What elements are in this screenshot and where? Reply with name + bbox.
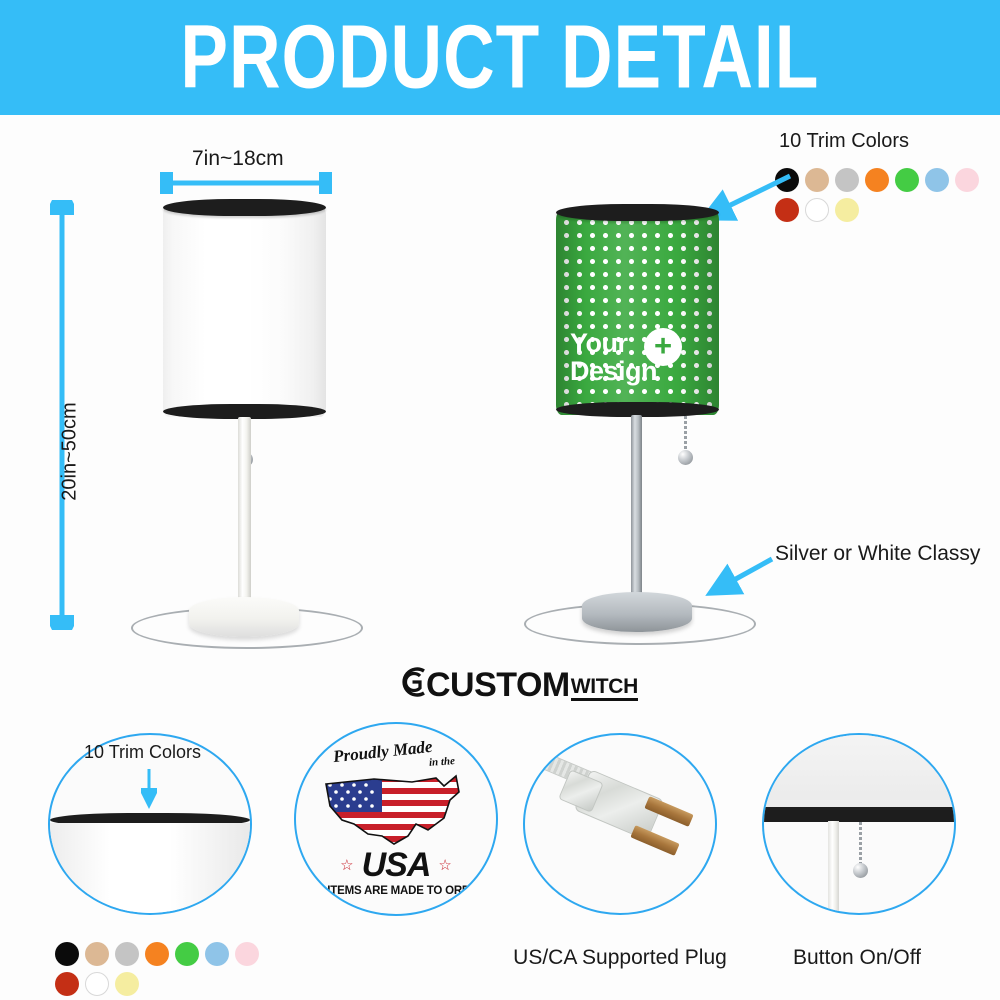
- plug-prong-bottom: [630, 825, 679, 856]
- feature-trim-colors-label: 10 Trim Colors: [84, 742, 201, 763]
- usa-in-the: in the: [429, 755, 456, 769]
- logo-c-icon: [398, 665, 428, 699]
- trim-swatch-red[interactable]: [55, 972, 79, 996]
- switch-chain-ball[interactable]: [853, 863, 868, 878]
- white-lamp-shade: [163, 205, 326, 417]
- trim-swatch-orange[interactable]: [145, 942, 169, 966]
- made-in-usa-feature-circle: Proudly Made in the: [294, 722, 498, 916]
- white-shade-surface: [163, 205, 326, 417]
- trim-colors-title: 10 Trim Colors: [779, 130, 909, 153]
- switch-pull-chain[interactable]: [859, 822, 862, 866]
- switch-feature-caption: Button On/Off: [707, 946, 1000, 970]
- trim-swatch-green[interactable]: [895, 168, 919, 192]
- plus-icon[interactable]: +: [644, 328, 682, 366]
- plus-icon-glyph: +: [654, 330, 672, 361]
- switch-pole: [828, 821, 839, 913]
- green-lamp-shade[interactable]: Your Design +: [556, 210, 719, 415]
- trim-swatch-orange[interactable]: [865, 168, 889, 192]
- logo-main-text: CUSTOM: [426, 669, 570, 701]
- trim-swatch-pink[interactable]: [235, 942, 259, 966]
- width-dimension-arrow: [160, 172, 332, 194]
- trim-swatch-gray[interactable]: [115, 942, 139, 966]
- trim-swatch-white[interactable]: [805, 198, 829, 222]
- trim-swatch-pink[interactable]: [955, 168, 979, 192]
- green-shade-top-trim: [556, 204, 719, 221]
- product-detail-infographic: PRODUCT DETAIL 10 Trim Colors 7in~18cm: [0, 0, 1000, 1000]
- base-finish-label: Silver or White Classy: [775, 542, 980, 566]
- usa-proudly-made: Proudly Made: [332, 736, 433, 766]
- green-lamp-pull-chain[interactable]: [684, 416, 687, 454]
- feature-trim-arrow: [141, 767, 157, 811]
- trim-swatch-light-blue[interactable]: [925, 168, 949, 192]
- trim-swatch-white[interactable]: [85, 972, 109, 996]
- page-title: PRODUCT DETAIL: [181, 13, 820, 103]
- silver-lamp-base: [582, 592, 692, 632]
- height-dimension-label: 20in~50cm: [59, 372, 82, 532]
- white-shade-top-trim: [163, 199, 326, 216]
- design-line-2: Design: [570, 358, 709, 386]
- silver-lamp-pole: [631, 415, 642, 595]
- trim-swatch-light-blue[interactable]: [205, 942, 229, 966]
- logo-sub-text: WITCH: [571, 676, 638, 701]
- header-banner: PRODUCT DETAIL: [0, 0, 1000, 115]
- green-lamp-chain-ball[interactable]: [678, 450, 693, 465]
- trim-swatch-green[interactable]: [175, 942, 199, 966]
- usa-wordmark: USA: [362, 848, 431, 882]
- bottom-trim-color-swatches[interactable]: [55, 942, 285, 996]
- trim-swatch-black[interactable]: [55, 942, 79, 966]
- star-right-icon: ☆: [438, 856, 451, 874]
- plug-feature-circle: [523, 733, 717, 915]
- trim-swatch-yellow[interactable]: [835, 198, 859, 222]
- width-dimension-label: 7in~18cm: [192, 147, 284, 171]
- usa-made-to-order: ALL ITEMS ARE MADE TO ORDER!: [303, 885, 490, 897]
- base-finish-arrow: [700, 553, 780, 603]
- switch-feature-circle: [762, 733, 956, 915]
- your-design-text-group: Your Design: [570, 330, 709, 385]
- trim-color-swatches[interactable]: [775, 168, 1000, 222]
- star-left-icon: ☆: [340, 856, 353, 874]
- white-lamp-base: [189, 597, 299, 637]
- trim-swatch-tan[interactable]: [805, 168, 829, 192]
- white-lamp-pole: [238, 417, 251, 602]
- trim-swatch-yellow[interactable]: [115, 972, 139, 996]
- trim-swatch-gray[interactable]: [835, 168, 859, 192]
- brand-logo: CUSTOM WITCH: [398, 665, 638, 701]
- feature-shade-body: [50, 823, 250, 913]
- usa-map-icon: [316, 766, 476, 852]
- switch-shade-trim: [764, 807, 954, 822]
- design-line-1: Your: [570, 330, 709, 358]
- switch-shade-body: [764, 735, 954, 811]
- usa-badge: Proudly Made in the: [296, 724, 496, 914]
- usa-headline-group: Proudly Made in the: [311, 742, 481, 768]
- trim-swatch-tan[interactable]: [85, 942, 109, 966]
- usa-wordmark-group: ☆ USA ☆: [340, 848, 452, 882]
